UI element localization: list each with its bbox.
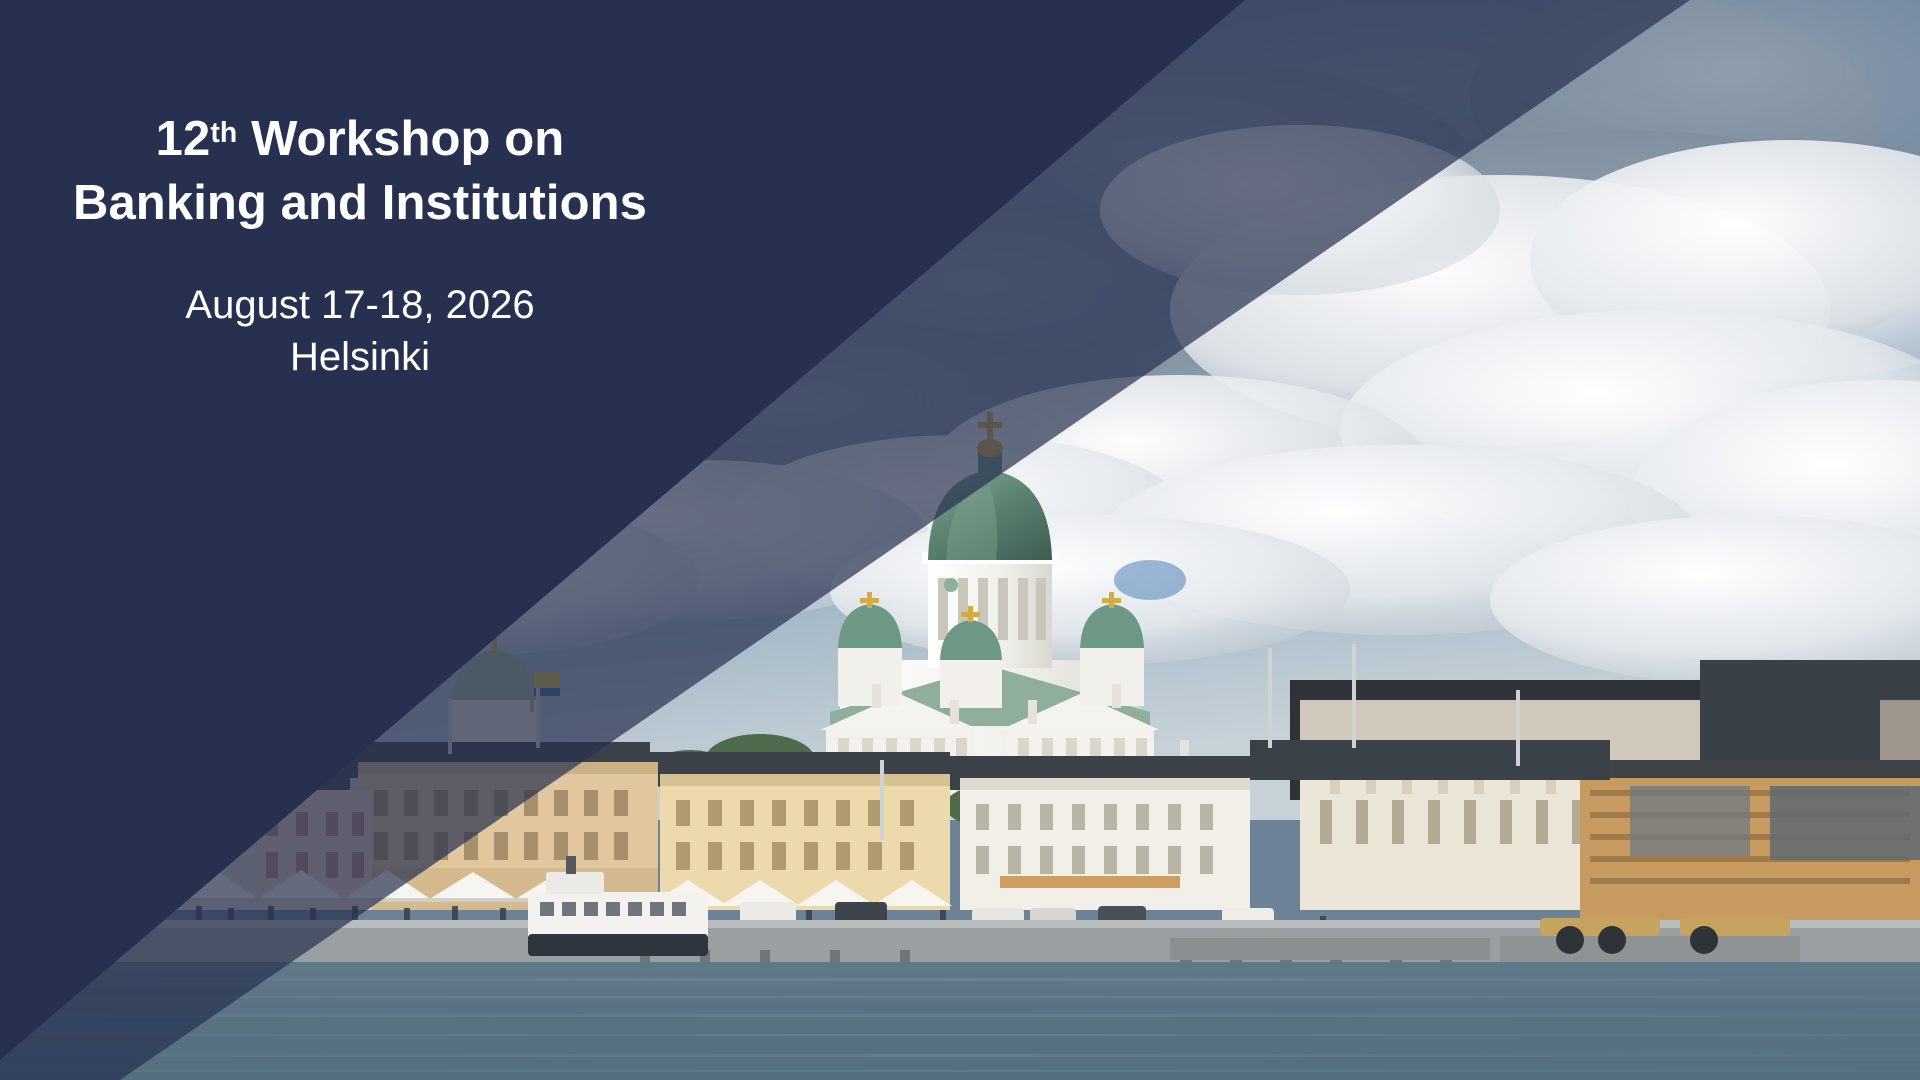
sky-gap [1114, 560, 1186, 600]
title-number: 12 [156, 112, 211, 166]
pier-deck [1170, 938, 1490, 960]
banner-text: 12th Workshop on Banking and Institution… [0, 108, 720, 383]
workshop-title-line1: 12th Workshop on [0, 108, 720, 172]
workshop-city: Helsinki [0, 331, 720, 383]
building-waterfront-c [960, 778, 1250, 910]
title-ordinal-suffix: th [210, 117, 237, 149]
sky-gap [930, 164, 990, 196]
cathedral-clock [944, 578, 958, 592]
workshop-dates: August 17-18, 2026 [185, 283, 534, 327]
workshop-subtitle: August 17-18, 2026 Helsinki [0, 279, 720, 383]
pier-deck [1500, 936, 1800, 962]
title-line1-rest: Workshop on [237, 112, 564, 166]
banner-root: 12th Workshop on Banking and Institution… [0, 0, 1920, 1080]
building-terrace-right [1580, 760, 1920, 940]
workshop-title-line2: Banking and Institutions [0, 172, 720, 236]
